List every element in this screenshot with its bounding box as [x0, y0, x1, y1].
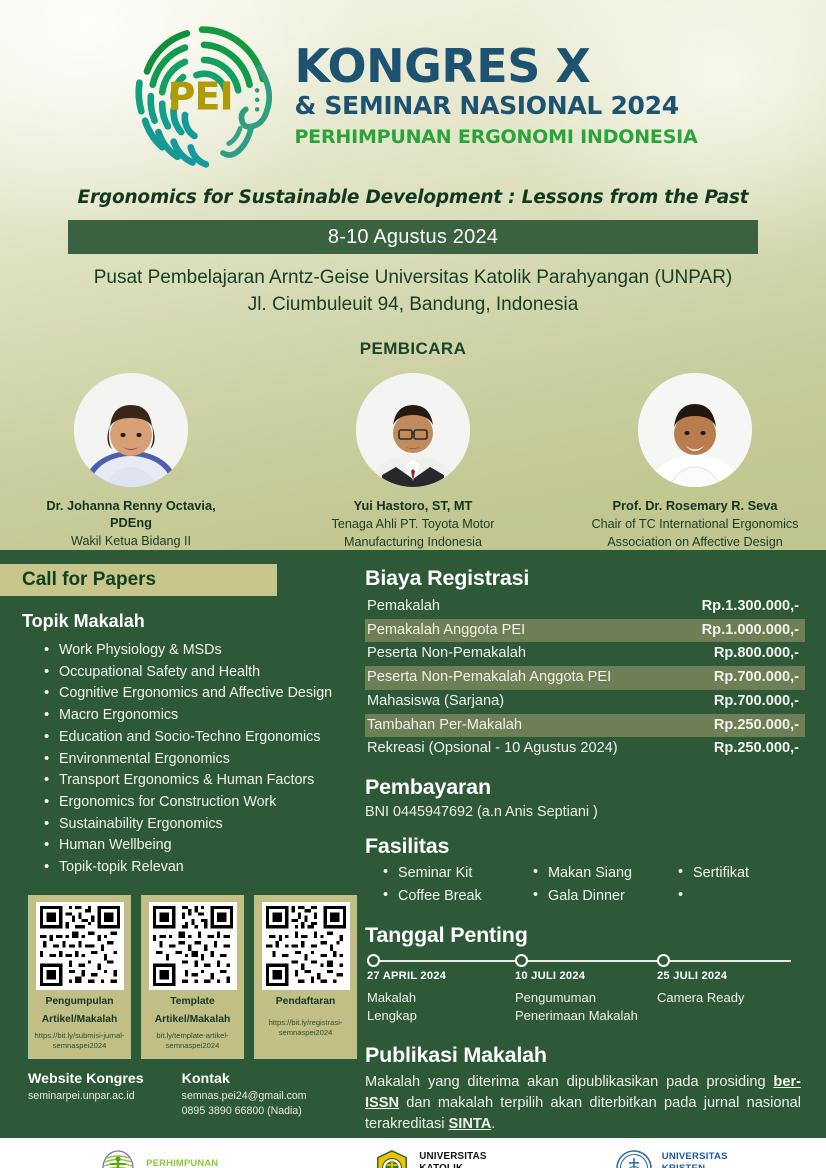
fee-amount: Rp.800.000,-: [714, 643, 799, 664]
fee-label: Pemakalah Anggota PEI: [367, 620, 525, 641]
facilities-heading: Fasilitas: [365, 834, 805, 859]
timeline-milestones: 27 APRIL 2024 Makalah Lengkap 10 JULI 20…: [367, 970, 805, 1024]
topic-item: Work Physiology & MSDs: [44, 640, 357, 662]
facility-item: Sertifikat: [678, 863, 805, 885]
publication-link-sinta[interactable]: SINTA: [449, 1116, 492, 1132]
conference-poster: PEI KONGRES X & SEMINAR NASIONAL 2024 PE…: [0, 0, 826, 1168]
fee-row: Pemakalah Rp.1.300.000,-: [365, 595, 805, 619]
contact-row: Website Kongres seminarpei.unpar.ac.id K…: [28, 1070, 357, 1119]
fee-amount: Rp.1.000.000,-: [702, 620, 799, 641]
payment-account: BNI 0445947692 (a.n Anis Septiani ): [365, 804, 805, 820]
timeline-milestone: 10 JULI 2024 Pengumuman Penerimaan Makal…: [515, 970, 657, 1024]
fee-label: Peserta Non-Pemakalah: [367, 643, 526, 664]
topic-item: Education and Socio-Techno Ergonomics: [44, 727, 357, 749]
qr-code-image[interactable]: [149, 902, 237, 990]
title-kongres: KONGRES X: [294, 43, 590, 89]
footer-logo-text: UNIVERSITAS KRISTEN MARANATHA: [662, 1151, 728, 1168]
poster-body: Call for Papers Topik Makalah Work Physi…: [0, 550, 826, 1135]
timeline-milestone: 27 APRIL 2024 Makalah Lengkap: [367, 970, 515, 1024]
fee-label: Pemakalah: [367, 596, 440, 617]
publication-text-a: Makalah yang diterima akan dipublikasika…: [365, 1074, 773, 1090]
pei-emblem-icon: [98, 1148, 138, 1168]
fee-label: Peserta Non-Pemakalah Anggota PEI: [367, 667, 611, 688]
publication-text-b: dan makalah terpilih akan diterbitkan pa…: [365, 1095, 801, 1132]
speakers-list: Dr. Johanna Renny Octavia, PDEng Wakil K…: [0, 373, 826, 550]
speaker-name: Dr. Johanna Renny Octavia, PDEng: [26, 497, 236, 532]
kontak-title: Kontak: [182, 1070, 307, 1088]
qr-url: https://bit.ly/registrasi-semnaspei2024: [259, 1018, 352, 1037]
title-seminar: & SEMINAR NASIONAL 2024: [294, 89, 678, 123]
facility-item-empty: [678, 886, 805, 908]
poster-footer: PERHIMPUNAN ERGONOMI INDONESIA UNIVERSIT…: [0, 1135, 826, 1168]
milestone-desc-2: Lengkap: [367, 1007, 515, 1025]
kontak-block: Kontak semnas.pei24@gmail.com 0895 3890 …: [182, 1070, 307, 1119]
facility-item: Makan Siang: [533, 863, 678, 885]
speaker-card: Prof. Dr. Rosemary R. Seva Chair of TC I…: [590, 373, 800, 550]
speaker-role-line-1: Tenaga Ahli PT. Toyota Motor: [308, 516, 518, 533]
qr-label-line-1: Template: [170, 996, 214, 1009]
qr-code-image[interactable]: [36, 902, 124, 990]
qr-card-registration[interactable]: Pendaftaran https://bit.ly/registrasi-se…: [254, 895, 357, 1060]
qr-code-row: Pengumpulan Artikel/Makalah https://bit.…: [28, 895, 357, 1060]
footer-logo-text: UNIVERSITAS KATOLIK PARAHYANGAN: [419, 1151, 497, 1168]
venue-line-2: Jl. Ciumbuleuit 94, Bandung, Indonesia: [0, 292, 826, 319]
title-organization: PERHIMPUNAN ERGONOMI INDONESIA: [294, 123, 697, 152]
fee-label: Tambahan Per-Makalah: [367, 715, 522, 736]
footer-logo-unpar: UNIVERSITAS KATOLIK PARAHYANGAN: [373, 1149, 497, 1168]
timeline-dot: [515, 954, 528, 967]
venue: Pusat Pembelajaran Arntz-Geise Universit…: [0, 265, 826, 319]
fee-row: Peserta Non-Pemakalah Rp.800.000,-: [365, 642, 805, 666]
qr-label-line-2: Artikel/Makalah: [42, 1014, 118, 1027]
footer-logo-line-2: KATOLIK: [419, 1163, 497, 1168]
website-title: Website Kongres: [28, 1070, 144, 1088]
footer-logo-line-2: KRISTEN: [662, 1163, 728, 1168]
qr-label-line-2: Artikel/Makalah: [155, 1014, 231, 1027]
logo-lockup: PEI KONGRES X & SEMINAR NASIONAL 2024 PE…: [0, 0, 826, 172]
facilities-list: Seminar Kit Makan Siang Sertifikat Coffe…: [383, 863, 805, 907]
milestone-desc-1: Camera Ready: [657, 989, 805, 1007]
date-band: 8-10 Agustus 2024: [68, 220, 758, 254]
call-for-papers-banner: Call for Papers: [0, 564, 277, 596]
unpar-emblem-icon: [373, 1149, 411, 1168]
qr-url: https://bit.ly/submisi-jurnal-semnaspei2…: [33, 1031, 126, 1050]
fee-amount: Rp.250.000,-: [714, 715, 799, 736]
poster-hero: PEI KONGRES X & SEMINAR NASIONAL 2024 PE…: [0, 0, 826, 550]
facility-item: Gala Dinner: [533, 886, 678, 908]
speaker-name: Yui Hastoro, ST, MT: [308, 497, 518, 514]
website-value[interactable]: seminarpei.unpar.ac.id: [28, 1089, 144, 1104]
topics-heading: Topik Makalah: [22, 611, 357, 632]
website-block: Website Kongres seminarpei.unpar.ac.id: [28, 1070, 144, 1119]
speaker-role-line-1: Chair of TC International Ergonomics: [590, 516, 800, 533]
milestone-desc-1: Pengumuman: [515, 989, 657, 1007]
fee-amount: Rp.1.300.000,-: [702, 596, 799, 617]
avatar: [638, 373, 752, 487]
qr-label-line-1: Pengumpulan: [45, 996, 113, 1009]
footer-logo-text: PERHIMPUNAN ERGONOMI INDONESIA: [146, 1157, 256, 1168]
topic-item: Topik-topik Relevan: [44, 857, 357, 879]
publication-text-c: .: [491, 1116, 495, 1132]
topic-item: Cognitive Ergonomics and Affective Desig…: [44, 683, 357, 705]
topic-item: Macro Ergonomics: [44, 705, 357, 727]
publication-text: Makalah yang diterima akan dipublikasika…: [365, 1072, 805, 1136]
speaker-role-line-1: Wakil Ketua Bidang II: [26, 533, 236, 550]
fee-amount: Rp.700.000,-: [714, 667, 799, 688]
facility-item: Seminar Kit: [383, 863, 533, 885]
topic-item: Environmental Ergonomics: [44, 749, 357, 771]
template-qr-icon: [153, 906, 233, 986]
footer-logo-maranatha: UNIVERSITAS KRISTEN MARANATHA: [614, 1148, 728, 1168]
qr-label-line-1: Pendaftaran: [276, 996, 336, 1009]
important-dates-heading: Tanggal Penting: [365, 923, 805, 948]
qr-card-template[interactable]: Template Artikel/Makalah bit.ly/template…: [141, 895, 244, 1060]
qr-card-submission[interactable]: Pengumpulan Artikel/Makalah https://bit.…: [28, 895, 131, 1060]
topic-item: Occupational Safety and Health: [44, 662, 357, 684]
timeline-dot: [657, 954, 670, 967]
kontak-email[interactable]: semnas.pei24@gmail.com: [182, 1089, 307, 1104]
speaker-card: Dr. Johanna Renny Octavia, PDEng Wakil K…: [26, 373, 236, 550]
qr-code-image[interactable]: [262, 902, 350, 990]
milestone-date: 25 JULI 2024: [657, 970, 805, 982]
topic-item: Human Wellbeing: [44, 835, 357, 857]
avatar: [356, 373, 470, 487]
fee-label: Mahasiswa (Sarjana): [367, 691, 504, 712]
fee-amount: Rp.250.000,-: [714, 738, 799, 759]
fee-amount: Rp.700.000,-: [714, 691, 799, 712]
fee-row: Rekreasi (Opsional - 10 Agustus 2024) Rp…: [365, 737, 805, 761]
footer-logo-pei: PERHIMPUNAN ERGONOMI INDONESIA: [98, 1148, 256, 1168]
qr-url: bit.ly/template-artikel-semnaspei2024: [146, 1031, 239, 1050]
important-dates-timeline: 27 APRIL 2024 Makalah Lengkap 10 JULI 20…: [367, 954, 805, 1024]
speaker-photo-3: [638, 373, 752, 487]
footer-logo-line-1: UNIVERSITAS: [419, 1151, 497, 1163]
avatar: [74, 373, 188, 487]
speakers-heading: PEMBICARA: [0, 339, 826, 359]
payment-heading: Pembayaran: [365, 775, 805, 800]
svg-text:PEI: PEI: [168, 74, 233, 118]
footer-logo-line-1: PERHIMPUNAN: [146, 1157, 256, 1168]
speaker-role-line-2: Manufacturing Indonesia: [308, 534, 518, 550]
topic-item: Transport Ergonomics & Human Factors: [44, 770, 357, 792]
right-column: Biaya Registrasi Pemakalah Rp.1.300.000,…: [357, 550, 826, 1135]
fee-row: Tambahan Per-Makalah Rp.250.000,-: [365, 714, 805, 738]
timeline-rail: [367, 954, 805, 968]
submission-qr-icon: [40, 906, 120, 986]
speaker-card: Yui Hastoro, ST, MT Tenaga Ahli PT. Toyo…: [308, 373, 518, 550]
publication-heading: Publikasi Makalah: [365, 1043, 805, 1068]
facility-item: Coffee Break: [383, 886, 533, 908]
kontak-phone[interactable]: 0895 3890 66800 (Nadia): [182, 1104, 307, 1119]
speaker-name: Prof. Dr. Rosemary R. Seva: [590, 497, 800, 514]
milestone-date: 27 APRIL 2024: [367, 970, 515, 982]
speaker-photo-2: [356, 373, 470, 487]
venue-line-1: Pusat Pembelajaran Arntz-Geise Universit…: [0, 265, 826, 292]
maranatha-emblem-icon: [614, 1148, 654, 1168]
fee-row: Peserta Non-Pemakalah Anggota PEI Rp.700…: [365, 666, 805, 690]
milestone-desc-1: Makalah: [367, 989, 515, 1007]
timeline-milestone: 25 JULI 2024 Camera Ready: [657, 970, 805, 1024]
fee-row: Pemakalah Anggota PEI Rp.1.000.000,-: [365, 619, 805, 643]
wordmark: KONGRES X & SEMINAR NASIONAL 2024 PERHIM…: [294, 43, 697, 151]
registration-heading: Biaya Registrasi: [365, 566, 805, 591]
fee-row: Mahasiswa (Sarjana) Rp.700.000,-: [365, 690, 805, 714]
footer-logo-line-1: UNIVERSITAS: [662, 1151, 728, 1163]
speaker-photo-1: [74, 373, 188, 487]
milestone-date: 10 JULI 2024: [515, 970, 657, 982]
fee-label: Rekreasi (Opsional - 10 Agustus 2024): [367, 738, 618, 759]
registration-qr-icon: [266, 906, 346, 986]
topic-item: Sustainability Ergonomics: [44, 814, 357, 836]
milestone-desc-2: Penerimaan Makalah: [515, 1007, 657, 1025]
registration-fee-table: Pemakalah Rp.1.300.000,- Pemakalah Anggo…: [365, 595, 805, 761]
pei-fingerprint-logo: PEI: [128, 22, 280, 172]
topic-item: Ergonomics for Construction Work: [44, 792, 357, 814]
speaker-role-line-2: Association on Affective Design: [590, 534, 800, 550]
tagline: Ergonomics for Sustainable Development :…: [0, 187, 826, 208]
timeline-line: [374, 960, 791, 962]
topics-list: Work Physiology & MSDs Occupational Safe…: [44, 640, 357, 879]
left-column: Call for Papers Topik Makalah Work Physi…: [0, 550, 357, 1135]
timeline-dot: [367, 954, 380, 967]
